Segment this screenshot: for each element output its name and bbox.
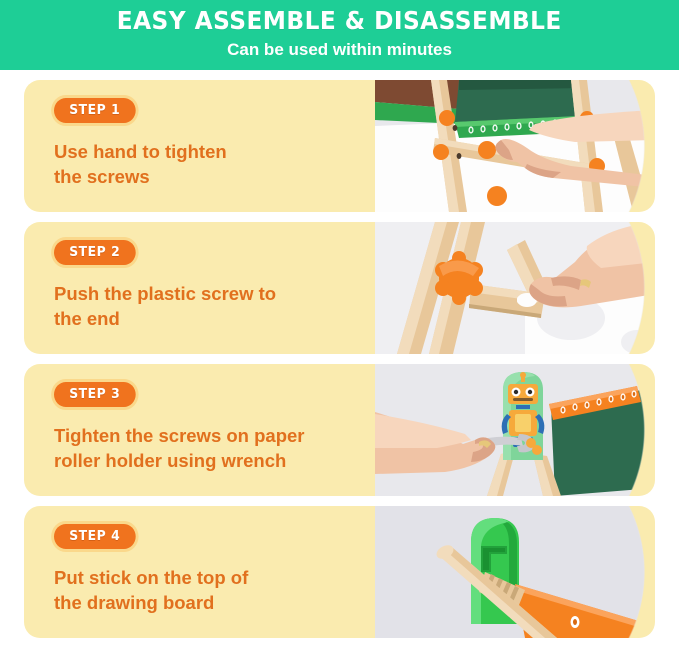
step-description-line1: Put stick on the top of — [54, 567, 248, 588]
plastic-screw-illustration — [375, 222, 655, 354]
step-description-line1: Tighten the screws on paper — [54, 425, 305, 446]
step-card-list: STEP 1 Use hand to tighten the screws — [0, 70, 679, 656]
photo-scene-clip — [375, 506, 655, 638]
status-badge: STEP 4 — [54, 524, 136, 549]
step-description: Tighten the screws on paper roller holde… — [54, 423, 384, 473]
step-description-line2: the screws — [54, 166, 150, 187]
step-text-block: STEP 2 Push the plastic screw to the end — [24, 222, 389, 354]
promo-page: EASY ASSEMBLE & DISASSEMBLE Can be used … — [0, 0, 679, 656]
step-description: Push the plastic screw to the end — [54, 281, 384, 331]
robot-holder-wrench-illustration — [375, 364, 655, 496]
step-text-block: STEP 4 Put stick on the top of the drawi… — [24, 506, 389, 638]
step-photo — [375, 222, 655, 354]
step-card: STEP 3 Tighten the screws on paper rolle… — [24, 364, 655, 496]
step-text-block: STEP 1 Use hand to tighten the screws — [24, 80, 389, 212]
step-photo — [375, 506, 655, 638]
step-description-line2: roller holder using wrench — [54, 450, 286, 471]
photo-scene-clip — [375, 364, 655, 496]
step-description: Put stick on the top of the drawing boar… — [54, 565, 384, 615]
status-badge: STEP 2 — [54, 240, 136, 265]
page-title: EASY ASSEMBLE & DISASSEMBLE — [117, 6, 562, 36]
step-text-block: STEP 3 Tighten the screws on paper rolle… — [24, 364, 389, 496]
step-description-line1: Use hand to tighten — [54, 141, 227, 162]
step-description-line2: the end — [54, 308, 120, 329]
status-badge: STEP 3 — [54, 382, 136, 407]
step-description-line2: the drawing board — [54, 592, 214, 613]
step-photo — [375, 80, 655, 212]
step-card: STEP 4 Put stick on the top of the drawi… — [24, 506, 655, 638]
easel-screw-illustration — [375, 80, 655, 212]
status-badge: STEP 1 — [54, 98, 136, 123]
stick-clip-illustration — [375, 506, 655, 638]
step-card: STEP 1 Use hand to tighten the screws — [24, 80, 655, 212]
photo-scene-clip — [375, 222, 655, 354]
page-subtitle: Can be used within minutes — [227, 39, 452, 61]
photo-scene-clip — [375, 80, 655, 212]
step-card: STEP 2 Push the plastic screw to the end — [24, 222, 655, 354]
step-description: Use hand to tighten the screws — [54, 139, 384, 189]
step-description-line1: Push the plastic screw to — [54, 283, 276, 304]
header-banner: EASY ASSEMBLE & DISASSEMBLE Can be used … — [0, 0, 679, 70]
step-photo — [375, 364, 655, 496]
